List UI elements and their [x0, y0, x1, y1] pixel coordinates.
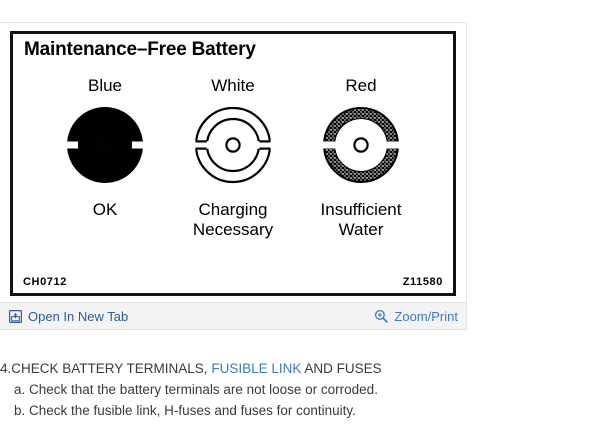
indicator-status-label-blue: OK — [41, 200, 169, 220]
indicator-status-label-white: Charging Necessary — [169, 200, 297, 240]
zoom-print-button[interactable]: Zoom/Print — [374, 309, 458, 324]
indicator-status-label-red: Insufficient Water — [297, 200, 425, 240]
indicator-color-label-white: White — [169, 76, 297, 96]
indicator-column-white: White — [169, 76, 297, 240]
outline-ring-icon — [190, 105, 276, 185]
substep-a: a. Check that the battery terminals are … — [0, 379, 560, 400]
step-heading: 4.CHECK BATTERY TERMINALS, FUSIBLE LINK … — [0, 358, 560, 379]
step-title-after-link: AND FUSES — [301, 361, 381, 376]
indicator-graphic-blue-wrap — [41, 102, 169, 188]
instruction-content: 4.CHECK BATTERY TERMINALS, FUSIBLE LINK … — [0, 358, 560, 421]
indicator-color-label-red: Red — [297, 76, 425, 96]
status-line: Charging — [169, 200, 297, 220]
battery-indicator-diagram: Maintenance–Free Battery Blue — [10, 31, 456, 296]
status-line: Necessary — [169, 220, 297, 240]
diagram-title: Maintenance–Free Battery — [24, 39, 256, 61]
indicator-column-blue: Blue — [41, 76, 169, 240]
status-line: OK — [41, 200, 169, 220]
indicator-graphic-red-wrap — [297, 102, 425, 188]
stippled-ring-icon — [318, 105, 404, 185]
solid-ring-icon — [62, 105, 148, 185]
status-line: Water — [297, 220, 425, 240]
open-in-new-tab-label: Open In New Tab — [28, 309, 128, 324]
indicator-graphic-white-wrap — [169, 102, 297, 188]
figure-viewer-panel: Maintenance–Free Battery Blue — [0, 22, 467, 330]
fusible-link-link[interactable]: FUSIBLE LINK — [211, 361, 301, 376]
diagram-code-right: Z11580 — [403, 276, 443, 288]
status-line: Insufficient — [297, 200, 425, 220]
indicator-column-red: Red — [297, 76, 425, 240]
substep-b: b. Check the fusible link, H-fuses and f… — [0, 400, 560, 421]
magnifier-plus-icon — [374, 309, 388, 323]
step-number: 4. — [0, 361, 11, 376]
open-in-new-tab-button[interactable]: Open In New Tab — [8, 309, 128, 324]
open-in-new-tab-icon — [8, 309, 22, 323]
step-title-before-link: CHECK BATTERY TERMINALS, — [11, 361, 211, 376]
indicator-columns: Blue — [13, 76, 453, 240]
diagram-code-left: CH0712 — [23, 276, 67, 288]
figure-toolbar: Open In New Tab Zoom/Print — [0, 302, 466, 329]
figure-stage: Maintenance–Free Battery Blue — [0, 23, 466, 302]
indicator-color-label-blue: Blue — [41, 76, 169, 96]
zoom-print-label: Zoom/Print — [394, 309, 458, 324]
